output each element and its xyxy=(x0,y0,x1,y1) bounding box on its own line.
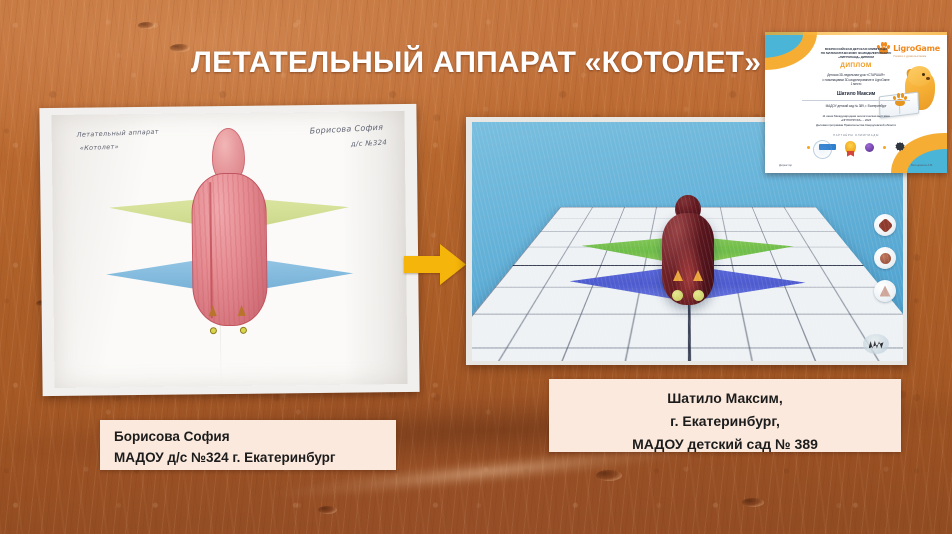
drawing-light-left xyxy=(210,327,217,334)
certificate-content: ВСЕРОССИЙСКАЯ ДЕТСКАЯ ОЛИМПИАДА ПО МАТЕМ… xyxy=(765,32,947,173)
circle-icon xyxy=(880,253,891,264)
model-light-left xyxy=(672,290,683,301)
model-body xyxy=(662,213,714,305)
certificate-signature-right: Мотыркина А.В. xyxy=(911,163,933,167)
crater-icon xyxy=(318,506,337,514)
model-light-right xyxy=(693,290,704,301)
crater-icon xyxy=(596,470,622,481)
diamond-icon xyxy=(877,217,893,233)
drawing-landing-leg-right xyxy=(238,305,246,316)
crater-icon xyxy=(138,22,155,29)
drawing-landing-leg-left xyxy=(209,305,217,316)
certificate-partner-logos xyxy=(774,141,938,154)
drawing-author-caption: Борисова София МАДОУ д/с №324 г. Екатери… xyxy=(100,420,396,470)
innoprom-gear-logo xyxy=(895,142,905,152)
caption-right-line-3: МАДОУ детский сад № 389 xyxy=(549,433,901,456)
material-swatch-pink-button[interactable] xyxy=(874,280,896,302)
caption-right-line-2: г. Екатеринбург, xyxy=(549,410,901,433)
material-swatch-dark-red-button[interactable] xyxy=(874,214,896,236)
flow-arrow-icon xyxy=(404,244,466,285)
certificate-divider xyxy=(802,100,910,101)
bullet-dot-icon xyxy=(883,146,886,149)
triangle-icon xyxy=(880,286,891,297)
certificate-stamp xyxy=(813,140,832,159)
certificate-partners-label: ПАРТНЁРЫ ОЛИМПИАДЫ xyxy=(774,134,938,138)
crater-icon xyxy=(742,498,764,507)
caption-right-line-1: Шатило Максим, xyxy=(549,387,901,410)
caption-left-line-1: Борисова София xyxy=(114,427,396,448)
certificate-organization-line-3: «ЛИГРОЛАНД» ДИПЛОМ xyxy=(774,55,938,59)
certificate-recipient-name: Шатило Максим xyxy=(774,91,938,98)
handwritten-author-line-2: д/с №324 xyxy=(351,138,388,148)
material-swatch-copper-button[interactable] xyxy=(874,247,896,269)
caption-left-line-2: МАДОУ д/с №324 г. Екатеринбург xyxy=(114,448,396,469)
handwritten-title-line-2: «Котолет» xyxy=(80,143,119,153)
model-nozzle-right xyxy=(693,270,703,281)
app-logo-watermark xyxy=(863,334,889,354)
drawing-light-right xyxy=(240,326,247,333)
app-logo-icon xyxy=(869,340,884,349)
diploma-certificate[interactable]: LigroGame Учимся с удовольствием ВСЕРОСС… xyxy=(765,32,947,173)
certificate-place: 1 место xyxy=(774,82,938,86)
model-author-caption: Шатило Максим, г. Екатеринбург, МАДОУ де… xyxy=(549,379,901,452)
certificate-event-line-3: Деловая программа Правительства Свердлов… xyxy=(774,123,938,127)
certificate-school: МАДОУ детский сад № 389, г. Екатеринбург xyxy=(774,104,938,108)
presentation-slide: ЛЕТАТЕЛЬНЫЙ АППАРАТ «КОТОЛЕТ» Летательны… xyxy=(0,0,952,534)
certificate-signature-left: Директор xyxy=(779,163,792,167)
certificate-signature-row: Директор Мотыркина А.В. xyxy=(774,163,938,167)
drawing-craft-body xyxy=(192,173,268,326)
child-drawing-photo[interactable]: Летательный аппарат «Котолет» Борисова С… xyxy=(39,104,419,396)
handwritten-author-line-1: Борисова София xyxy=(310,122,384,135)
certificate-award-word: ДИПЛОМ xyxy=(774,62,938,71)
handwritten-title-line-1: Летательный аппарат xyxy=(76,128,158,139)
drawing-paper: Летательный аппарат «Котолет» Борисова С… xyxy=(52,111,408,387)
model-nozzle-left xyxy=(673,270,683,281)
gold-medal-icon xyxy=(845,141,856,154)
bullet-dot-icon xyxy=(807,146,810,149)
partner-purple-logo xyxy=(865,143,874,152)
